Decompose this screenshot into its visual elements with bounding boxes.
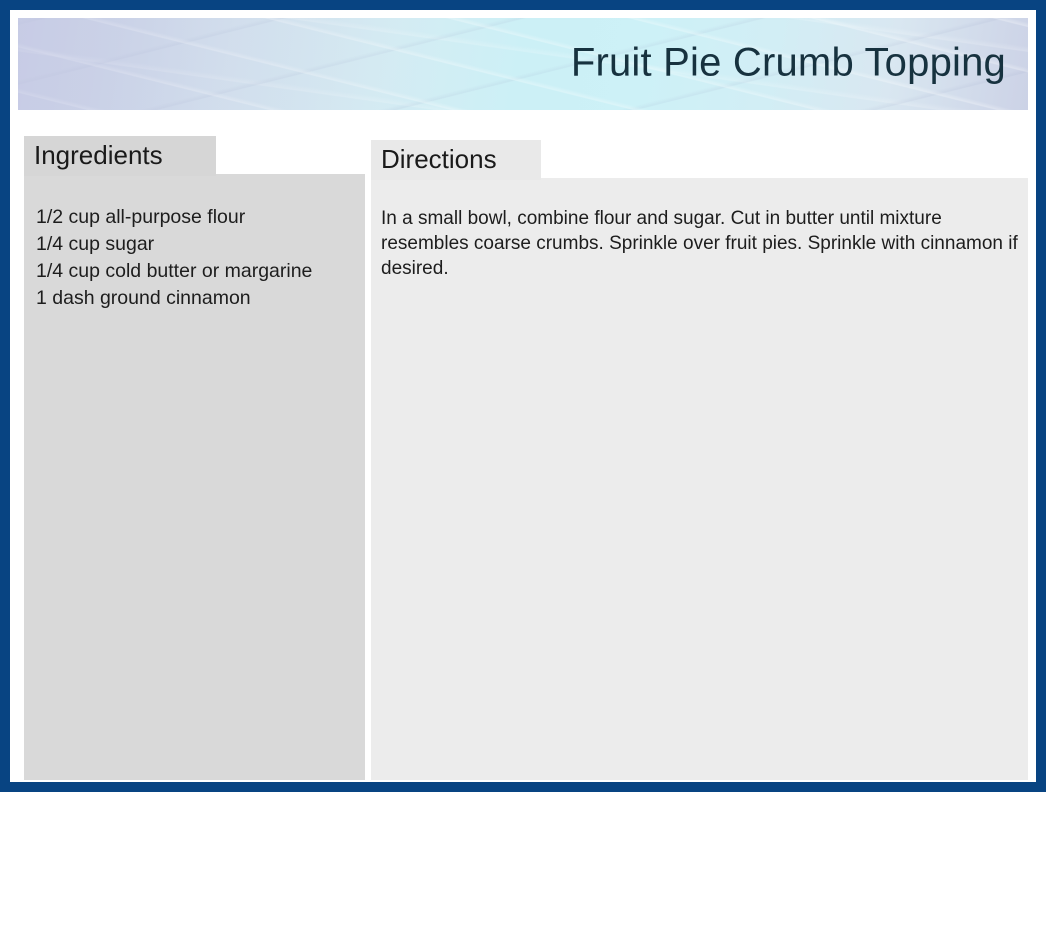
ingredients-list: 1/2 cup all-purpose flour 1/4 cup sugar … [36, 204, 357, 312]
list-item: 1/4 cup cold butter or margarine [36, 258, 357, 285]
title-banner: Fruit Pie Crumb Topping [18, 18, 1028, 110]
list-item: 1/2 cup all-purpose flour [36, 204, 357, 231]
list-item: 1 dash ground cinnamon [36, 285, 357, 312]
ingredients-panel: 1/2 cup all-purpose flour 1/4 cup sugar … [24, 174, 365, 780]
section-heading-directions: Directions [371, 140, 541, 180]
ingredients-heading-label: Ingredients [34, 140, 163, 170]
list-item: 1/4 cup sugar [36, 231, 357, 258]
card-inner-surface: Fruit Pie Crumb Topping [10, 10, 1036, 782]
recipe-card: Fruit Pie Crumb Topping [0, 0, 1046, 792]
directions-panel: In a small bowl, combine flour and sugar… [371, 178, 1028, 780]
directions-text: In a small bowl, combine flour and sugar… [381, 206, 1026, 281]
directions-heading-label: Directions [381, 144, 497, 174]
section-heading-ingredients: Ingredients [24, 136, 216, 176]
page-title: Fruit Pie Crumb Topping [571, 41, 1006, 86]
